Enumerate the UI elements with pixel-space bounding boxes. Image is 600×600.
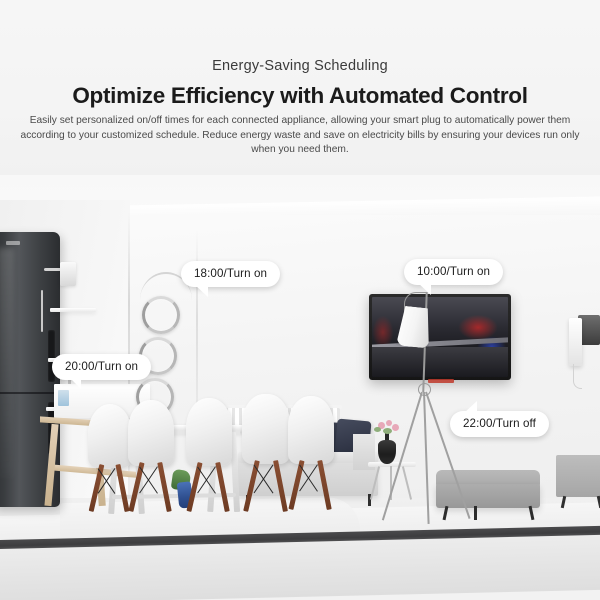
chair-shell [242,394,290,464]
intercom-cord [573,364,582,389]
flower-petal [392,424,399,431]
wall-mounted-device [60,262,76,286]
callout-tail-icon [418,283,431,295]
promo-graphic: Energy-Saving Scheduling Optimize Effici… [0,0,600,600]
schedule-callout-floor-lamp[interactable]: 22:00/Turn off [450,411,549,437]
flower-leaf [383,428,392,434]
refrigerator-door-split [0,392,60,394]
callout-label: 22:00/Turn off [463,417,536,430]
schedule-callout-television[interactable]: 10:00/Turn on [404,259,503,285]
refrigerator-sheen [0,248,14,478]
right-side-cabinet [556,455,600,497]
tv-accent-bar [428,379,454,383]
callout-label: 10:00/Turn on [417,265,490,278]
schedule-callout-wall-rings[interactable]: 18:00/Turn on [181,261,280,287]
side-table [368,462,416,467]
ottoman-leg-2 [474,506,477,520]
header-block: Energy-Saving Scheduling Optimize Effici… [0,0,600,175]
wall-shelf-top [50,308,96,312]
flower-petal [386,420,392,426]
callout-label: 18:00/Turn on [194,267,267,280]
ottoman [436,484,540,508]
wall-ring-1 [142,296,180,334]
vase [378,440,396,464]
callout-tail-icon [70,378,81,389]
callout-tail-icon [195,285,208,297]
description-text: Easily set personalized on/off times for… [14,114,586,158]
refrigerator-logo [6,241,20,245]
counter-item [58,390,69,406]
eyebrow-text: Energy-Saving Scheduling [0,58,600,74]
chair-shell [128,400,174,466]
tv-scene-road [372,347,508,377]
chair-shell [88,404,132,468]
flower-bouquet [374,420,402,436]
callout-label: 20:00/Turn on [65,360,138,373]
chair-shell [186,398,232,466]
television [369,294,511,380]
flower-leaf [374,427,381,432]
page-title: Optimize Efficiency with Automated Contr… [0,83,600,109]
schedule-callout-refrigerator[interactable]: 20:00/Turn on [52,354,151,380]
floor-lamp-hub [418,383,431,396]
tv-screen [372,297,508,377]
callout-tail-icon [464,401,477,413]
chair-shell [288,396,334,464]
wall-intercom [569,318,582,366]
wall-device-cord [41,290,43,332]
